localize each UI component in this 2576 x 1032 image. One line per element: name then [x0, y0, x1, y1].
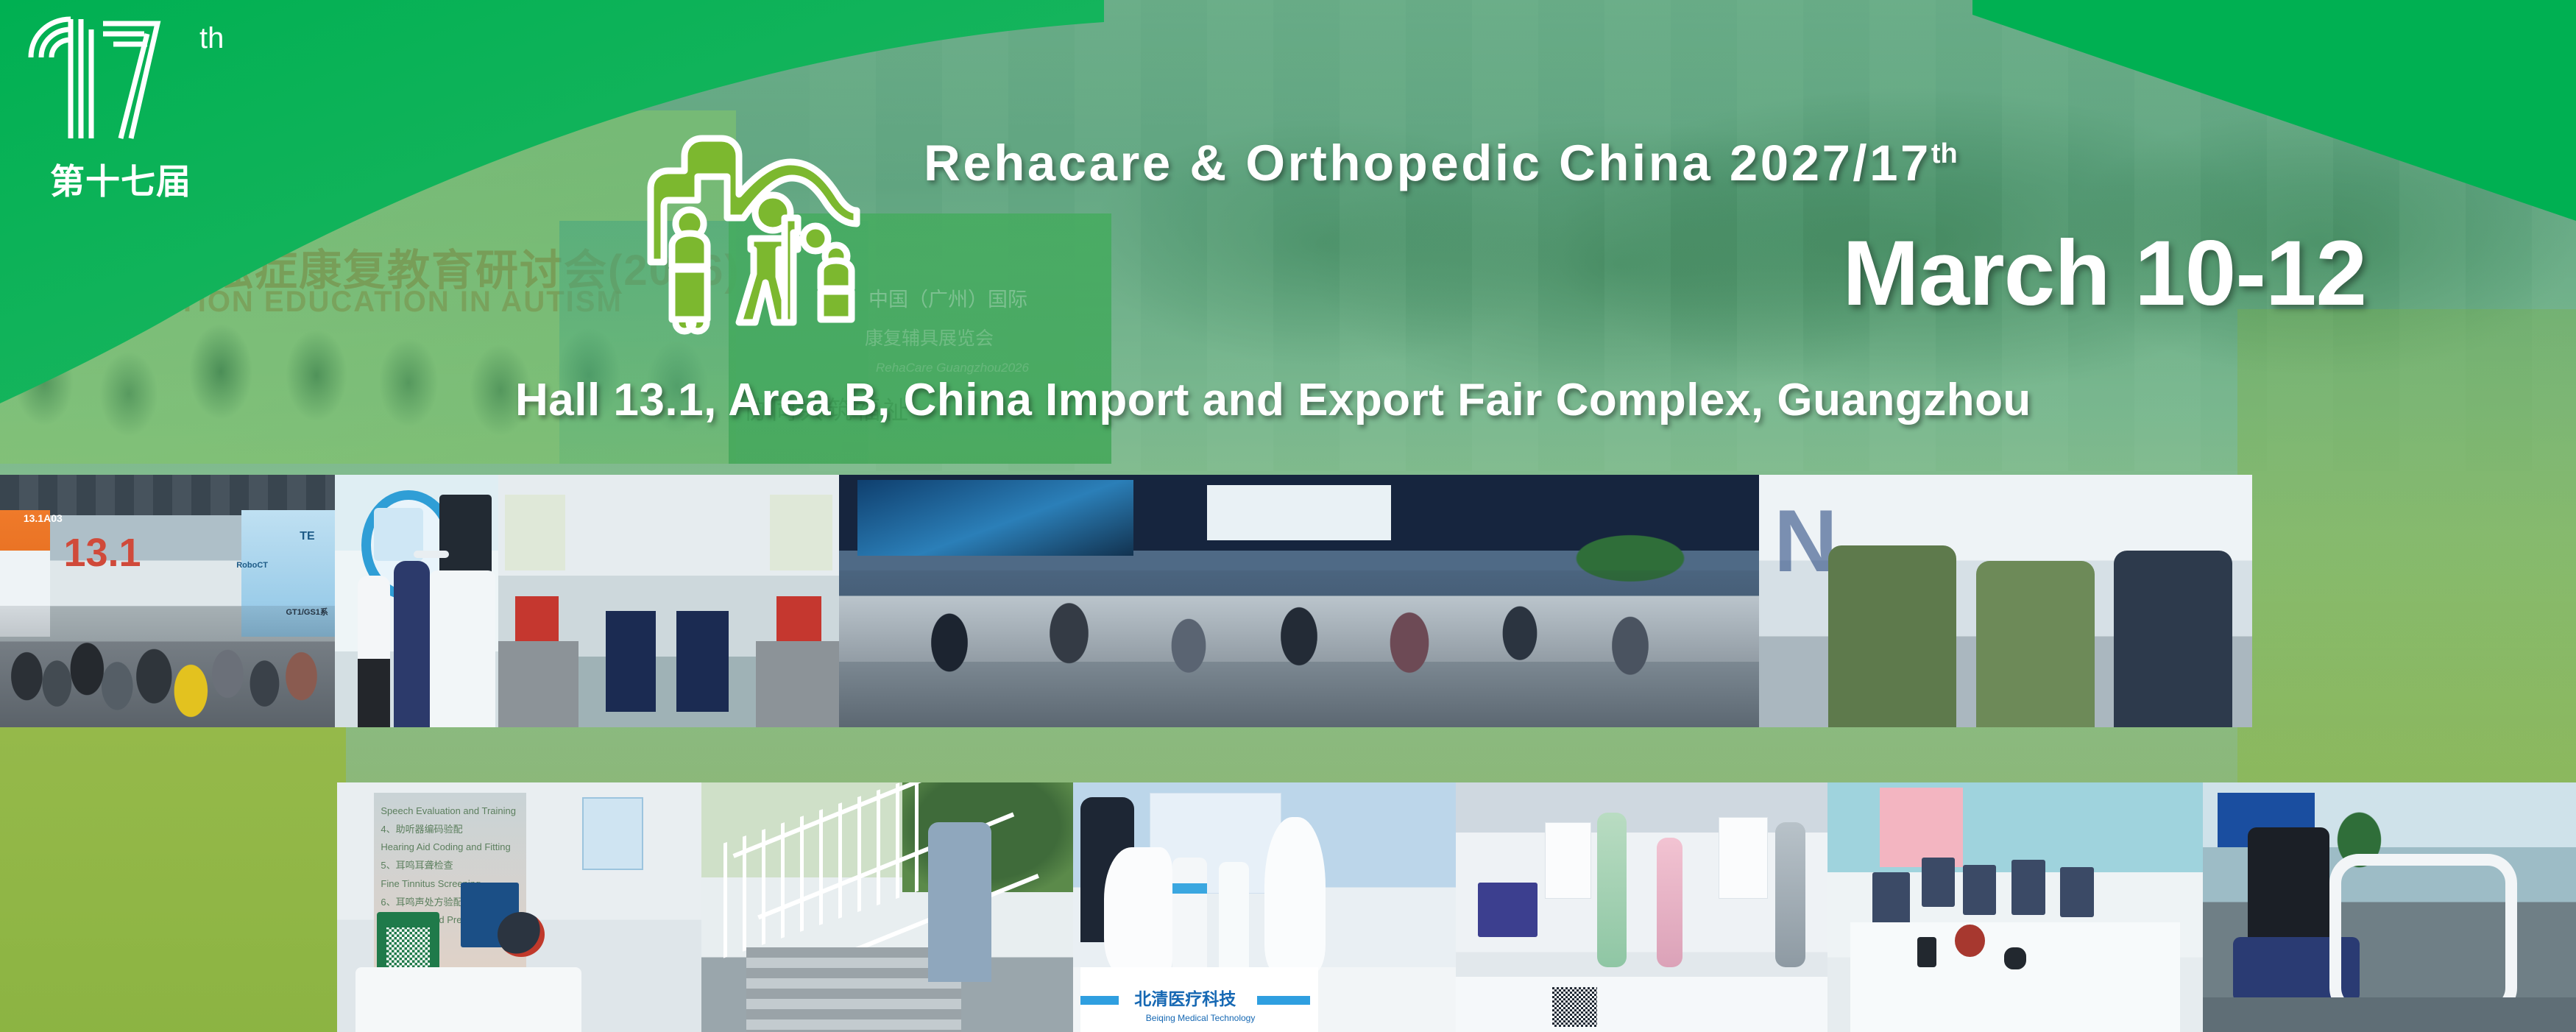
exhibitor-brand-label: TE [300, 530, 314, 543]
rehacare-event-logo [598, 130, 907, 350]
edition-superscript: th [199, 22, 224, 55]
event-venue: Hall 13.1, Area B, China Import and Expo… [515, 374, 2031, 426]
photo-strip-bottom: Speech Evaluation and Training 4、助听器编码验配… [337, 782, 2576, 1032]
photo-strip-top: 13.1A03 13.1 TE RoboCT GT1/GS1系 [0, 475, 2252, 727]
number-17-glyph [21, 9, 183, 149]
lower-left-green-panel [0, 727, 346, 1032]
photo-3d-printed-orthoses: 北清医疗科技 Beiqing Medical Technology [1073, 782, 1456, 1032]
photo-wearable-devices [1827, 782, 2203, 1032]
photo-rehab-device-demo [335, 475, 498, 727]
orthoses-brand-en: Beiqing Medical Technology [1146, 1013, 1256, 1023]
photo-rehabilitation-chair [2203, 782, 2576, 1032]
edition-badge: th 第十七届 [21, 9, 241, 200]
photo-prosthetic-components [1456, 782, 1827, 1032]
photo-international-visitors: N [1759, 475, 2252, 727]
exhibition-banner: 第十六届孤独症康复教育研讨会(2026) REHABILITATION EDUC… [0, 0, 2576, 1032]
orthoses-brand-cn: 北清医疗科技 [1134, 985, 1236, 1010]
event-title-text: Rehacare & Orthopedic China 2027/ [924, 135, 1869, 191]
robot-brand-label: RoboCT [236, 561, 268, 570]
booth-number-label: 13.1A03 [24, 512, 63, 524]
edition-chinese-label: 第十七届 [50, 153, 191, 204]
hall-number-label: 13.1 [63, 530, 141, 576]
event-title: Rehacare & Orthopedic China 2027/17th [924, 134, 1958, 192]
photo-booth-corridor [498, 475, 666, 727]
photo-exhibition-hall-crowd: 13.1A03 13.1 TE RoboCT GT1/GS1系 [0, 475, 335, 727]
event-date: March 10-12 [1842, 221, 2366, 326]
photo-crowd-led-screen [839, 475, 1759, 727]
photo-hearing-aid-counter: Speech Evaluation and Training 4、助听器编码验配… [337, 782, 701, 1032]
event-edition-suffix: th [1931, 138, 1958, 169]
photo-booth-corridor-2 [666, 475, 839, 727]
event-edition-number: 17 [1869, 135, 1931, 191]
photo-accessible-ramp [701, 782, 1073, 1032]
